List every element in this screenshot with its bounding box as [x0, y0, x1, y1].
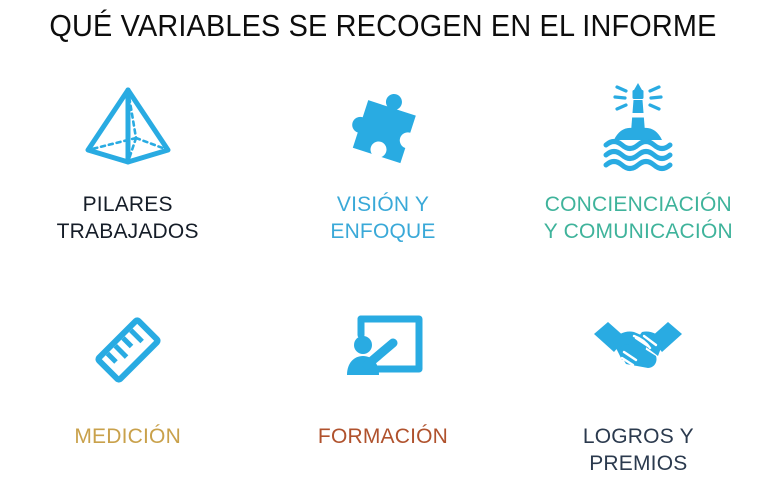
grid-item-formacion: FORMACIÓN — [255, 280, 510, 488]
grid-item-concienciacion-comunicacion: CONCIENCIACIÓN Y COMUNICACIÓN — [511, 72, 766, 280]
ruler-icon — [80, 302, 176, 398]
grid-item-label: MEDICIÓN — [74, 424, 181, 451]
grid-item-vision-enfoque: VISIÓN Y ENFOQUE — [255, 72, 510, 280]
handshake-icon — [590, 302, 686, 398]
grid-item-label: FORMACIÓN — [318, 424, 448, 451]
teacher-whiteboard-icon — [335, 302, 431, 398]
grid-item-label: CONCIENCIACIÓN Y COMUNICACIÓN — [544, 192, 733, 246]
variables-grid: PILARES TRABAJADOS VISIÓN Y ENFOQUE — [0, 72, 766, 488]
grid-item-label: PILARES TRABAJADOS — [57, 192, 199, 246]
grid-item-logros-premios: LOGROS Y PREMIOS — [511, 280, 766, 488]
grid-item-label: LOGROS Y PREMIOS — [583, 424, 694, 478]
grid-item-pilares-trabajados: PILARES TRABAJADOS — [0, 72, 255, 280]
puzzle-piece-icon — [335, 78, 431, 174]
page-title: QUÉ VARIABLES SE RECOGEN EN EL INFORME — [27, 8, 739, 44]
grid-item-medicion: MEDICIÓN — [0, 280, 255, 488]
infographic-page: QUÉ VARIABLES SE RECOGEN EN EL INFORME P… — [0, 0, 766, 488]
pyramid-icon — [80, 78, 176, 174]
grid-item-label: VISIÓN Y ENFOQUE — [330, 192, 435, 246]
lighthouse-icon — [590, 78, 686, 174]
